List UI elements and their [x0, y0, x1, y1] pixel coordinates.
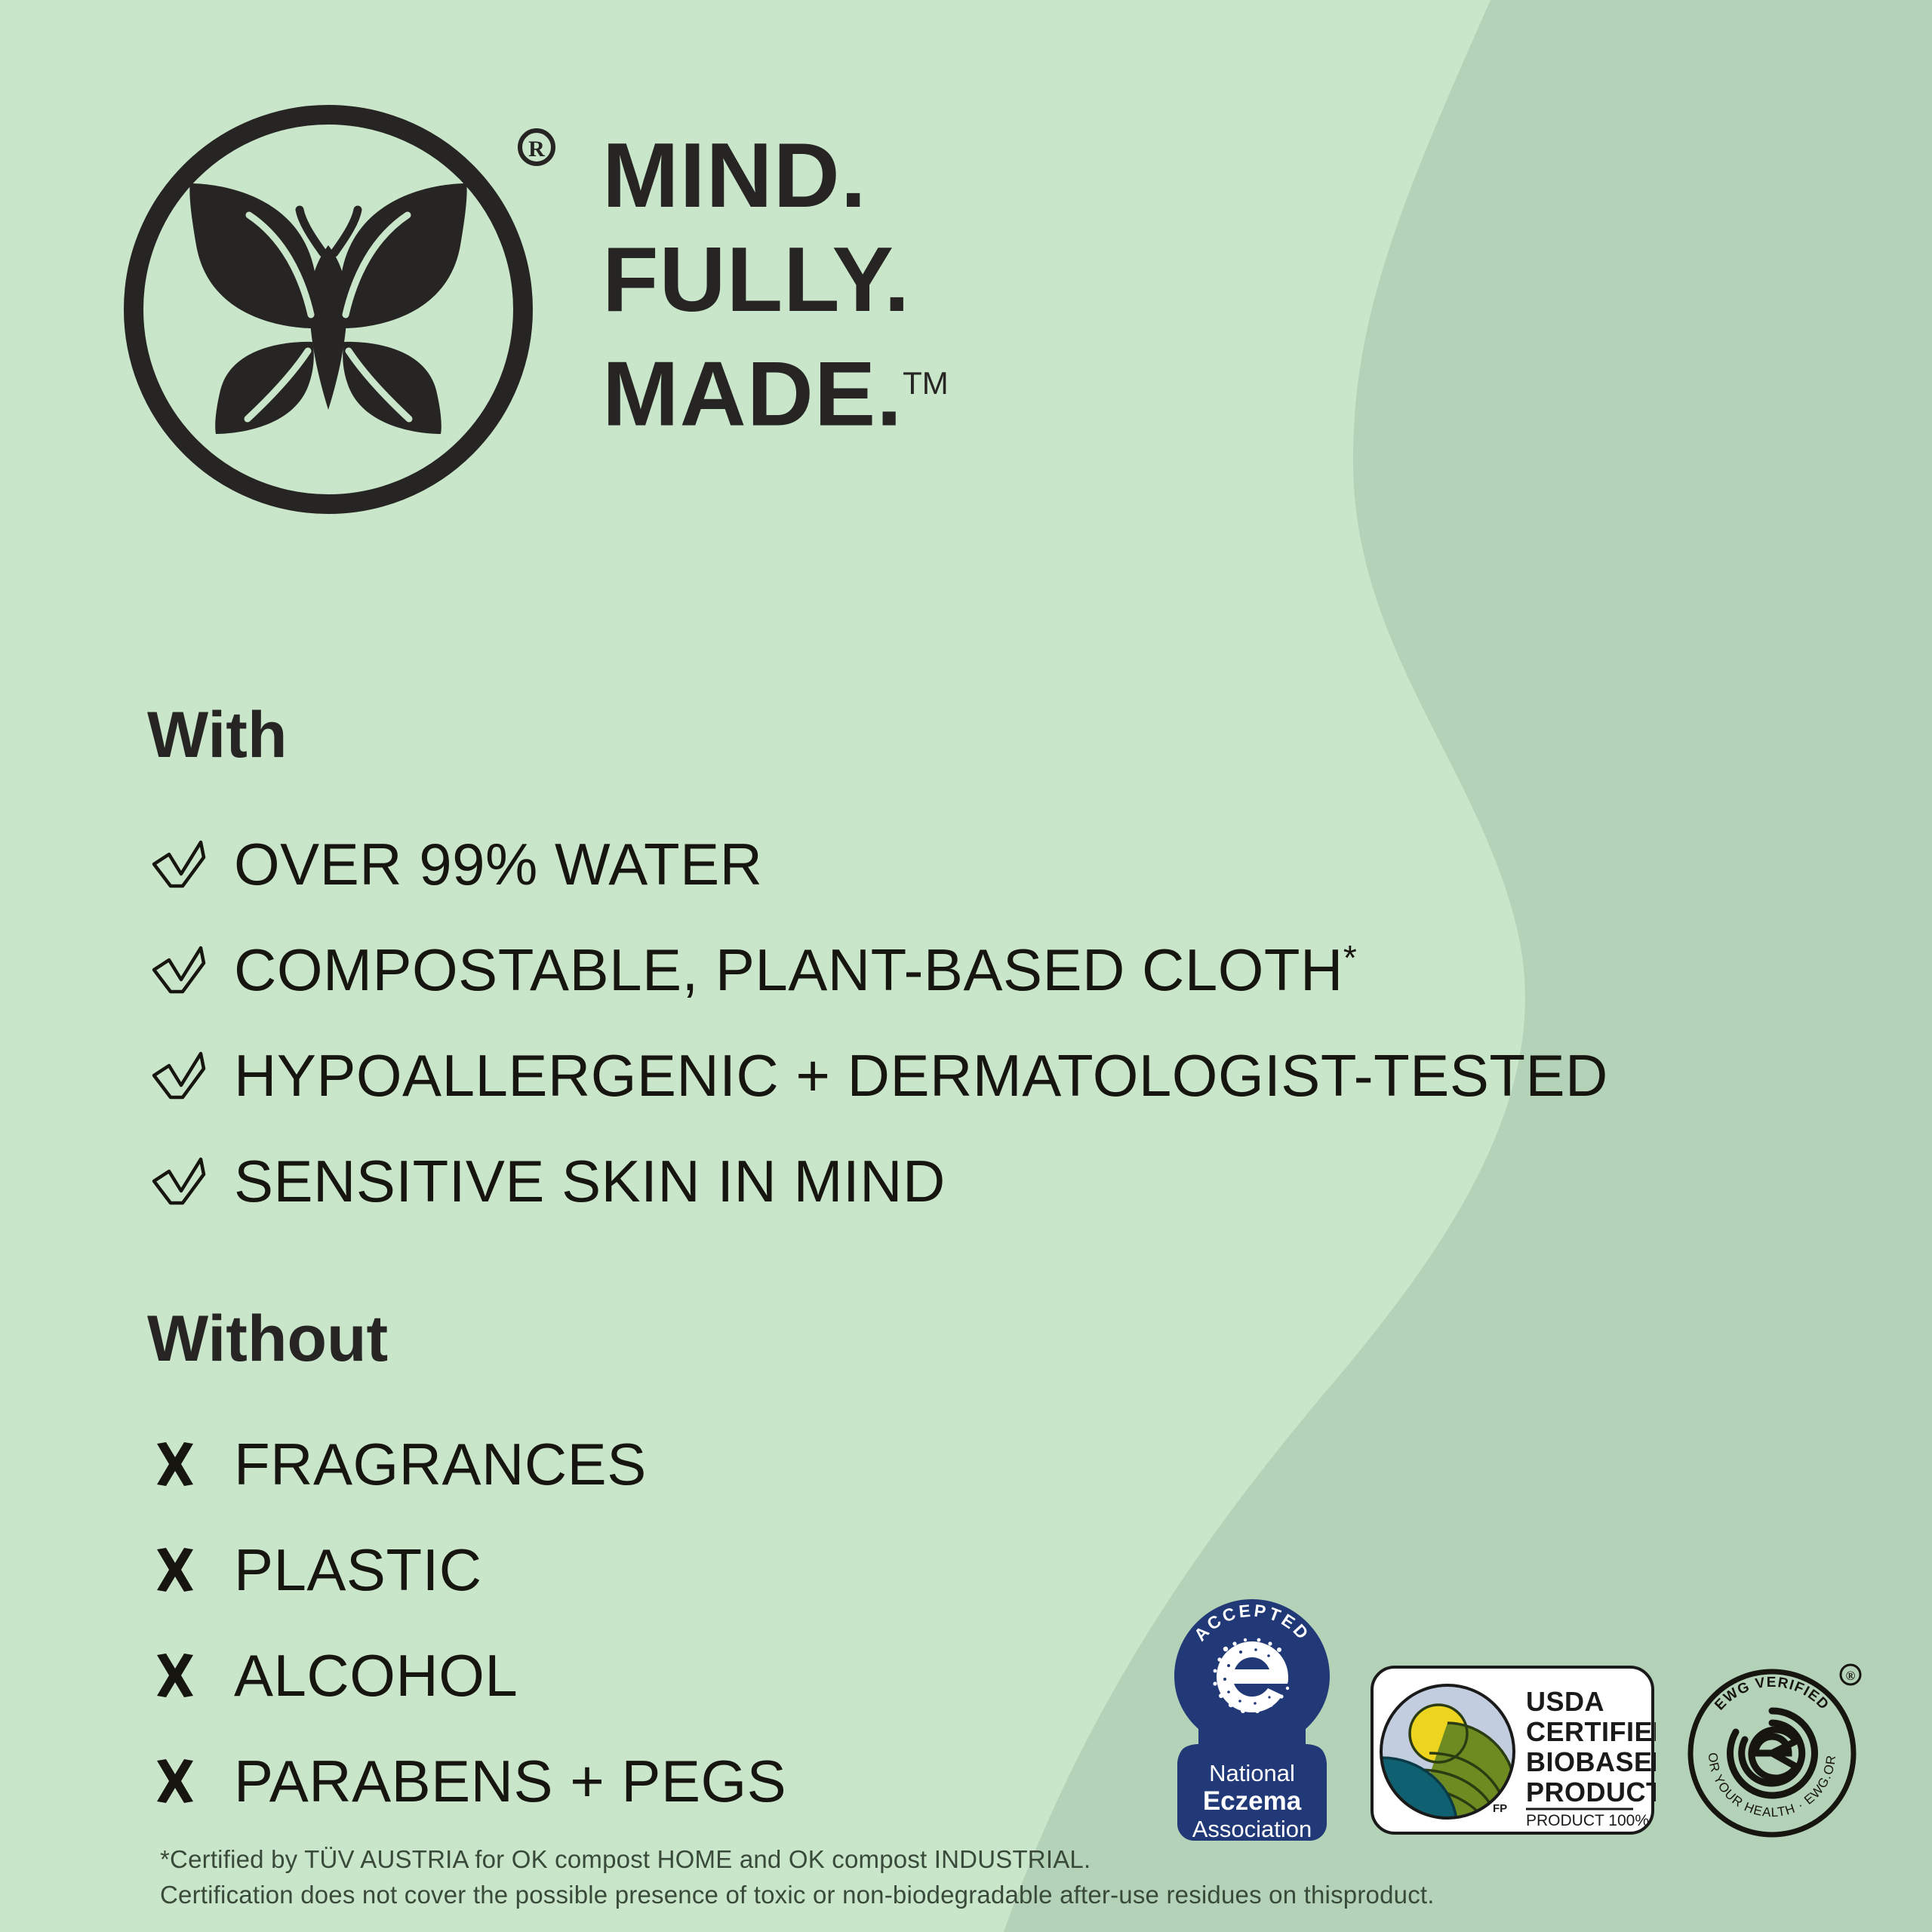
list-item-label: PLASTIC: [234, 1536, 482, 1604]
wordmark: MIND. FULLY. MADE.TM: [602, 123, 949, 446]
wordmark-line-3: MADE.TM: [602, 331, 949, 446]
usda-certified-biobased-product-badge: FP USDA CERTIFIED BIOBASED PRODUCT PRODU…: [1369, 1664, 1656, 1845]
badge-line-1: USDA: [1526, 1686, 1604, 1717]
without-feature-list: FRAGRANCES PLASTIC ALCOHOL: [151, 1411, 786, 1834]
list-item: PLASTIC: [151, 1517, 786, 1623]
cross-solid-icon: [151, 1758, 234, 1804]
list-item-label: PARABENS + PEGS: [234, 1747, 786, 1816]
badge-line-4: PRODUCT: [1526, 1777, 1656, 1807]
wordmark-line-1: MIND.: [602, 123, 949, 227]
check-outline-icon: [151, 945, 234, 995]
svg-text:®: ®: [1846, 1669, 1856, 1683]
with-section-heading: With: [147, 698, 287, 773]
footnote-line-2: Certification does not cover the possibl…: [160, 1877, 1435, 1912]
list-item: COMPOSTABLE, PLANT-BASED CLOTH*: [151, 917, 1608, 1023]
list-item-label: COMPOSTABLE, PLANT-BASED CLOTH*: [234, 936, 1357, 1004]
footnote: *Certified by TÜV AUSTRIA for OK compost…: [160, 1841, 1435, 1912]
badge-line-3: Association: [1192, 1816, 1312, 1842]
list-item-label: ALCOHOL: [234, 1641, 518, 1710]
with-feature-list: OVER 99% WATER COMPOSTABLE, PLANT-BASED …: [151, 811, 1608, 1234]
list-item-label: FRAGRANCES: [234, 1430, 647, 1499]
cross-solid-icon: [151, 1546, 234, 1593]
badge-line-3: BIOBASED: [1526, 1746, 1656, 1777]
trademark-mark: TM: [903, 365, 949, 401]
list-item: SENSITIVE SKIN IN MIND: [151, 1128, 1608, 1234]
badge-line-2: CERTIFIED: [1526, 1716, 1656, 1747]
list-item-label: HYPOALLERGENIC + DERMATOLOGIST-TESTED: [234, 1041, 1608, 1110]
badge-line-1: National: [1209, 1760, 1295, 1786]
wordmark-line-3-text: MADE.: [602, 343, 903, 445]
list-item: PARABENS + PEGS: [151, 1728, 786, 1834]
list-item: ALCOHOL: [151, 1623, 786, 1728]
butterfly-leaf-circle-icon: R: [121, 102, 589, 525]
wordmark-line-2: FULLY.: [602, 227, 949, 331]
badge-corner-mark: FP: [1493, 1802, 1507, 1815]
list-item: HYPOALLERGENIC + DERMATOLOGIST-TESTED: [151, 1023, 1608, 1128]
list-item-label: SENSITIVE SKIN IN MIND: [234, 1147, 946, 1216]
wing-upper-left-icon: [189, 183, 318, 328]
svg-text:R: R: [528, 137, 545, 162]
check-outline-icon: [151, 1156, 234, 1206]
list-item: FRAGRANCES: [151, 1411, 786, 1517]
wing-upper-right-icon: [339, 183, 467, 328]
wing-lower-right-icon: [343, 342, 441, 434]
check-outline-icon: [151, 1051, 234, 1100]
certification-badge-group: ACCEPTED: [1162, 1596, 1872, 1845]
without-section-heading: Without: [147, 1302, 388, 1377]
cross-solid-icon: [151, 1441, 234, 1487]
ewg-spiral-e-icon: [1730, 1711, 1814, 1795]
badge-line-2: Eczema: [1203, 1786, 1302, 1816]
national-eczema-association-badge: ACCEPTED: [1162, 1596, 1342, 1845]
badge-subline: PRODUCT 100%: [1526, 1812, 1649, 1829]
ewg-verified-badge: EWG VERIFIED FOR YOUR HEALTH · EWG.ORG ®: [1683, 1657, 1872, 1845]
registered-trademark-icon: ®: [1841, 1665, 1860, 1684]
footnote-line-1: *Certified by TÜV AUSTRIA for OK compost…: [160, 1841, 1435, 1877]
registered-trademark-icon: R: [520, 131, 553, 164]
check-outline-icon: [151, 839, 234, 889]
list-item-label: OVER 99% WATER: [234, 830, 762, 899]
cross-solid-icon: [151, 1652, 234, 1699]
list-item: OVER 99% WATER: [151, 811, 1608, 917]
farm-landscape-icon: [1381, 1685, 1514, 1820]
wing-lower-left-icon: [215, 342, 314, 434]
brand-lockup: R MIND. FULLY. MADE.TM: [121, 102, 949, 525]
